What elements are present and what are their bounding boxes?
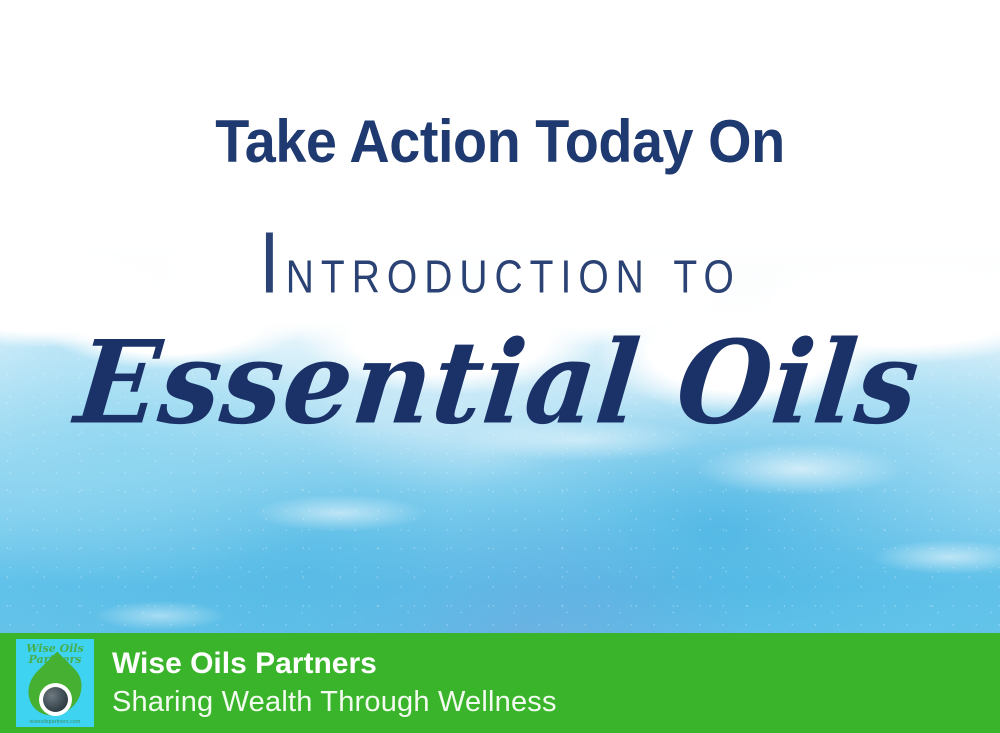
footer-text-block: Wise Oils Partners Sharing Wealth Throug… xyxy=(112,649,557,717)
footer-bar: Wise Oils Partners wiseoilspartners.com … xyxy=(0,633,1000,733)
logo-url-text: wiseoilspartners.com xyxy=(16,719,94,725)
title-block: Take Action Today On Introduction to Ess… xyxy=(0,0,1000,439)
brand-tagline: Sharing Wealth Through Wellness xyxy=(112,688,557,717)
brand-name: Wise Oils Partners xyxy=(112,649,557,679)
logo-circle-photo xyxy=(43,687,68,712)
slide-canvas: Take Action Today On Introduction to Ess… xyxy=(0,0,1000,733)
kicker-heading: Take Action Today On xyxy=(35,0,965,172)
brand-logo-icon: Wise Oils Partners wiseoilspartners.com xyxy=(16,639,94,727)
title-line-essential-oils: Essential Oils xyxy=(0,281,1000,444)
